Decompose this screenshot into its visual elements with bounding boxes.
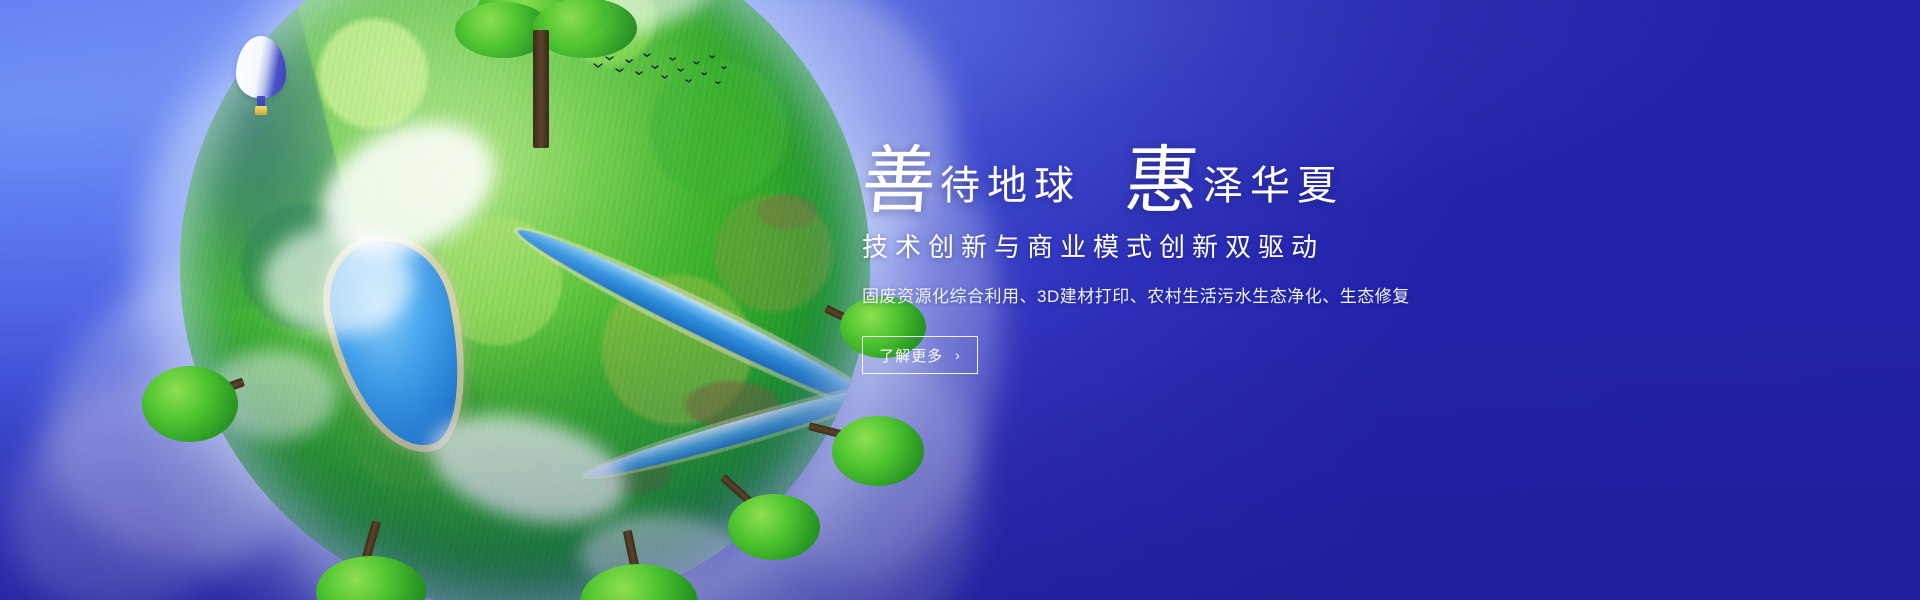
tree-icon [690, 470, 820, 580]
tree-trunk [533, 30, 549, 148]
tree-crown [142, 366, 238, 442]
birds-icon [590, 48, 730, 94]
headline-primary-1: 善 [859, 142, 938, 220]
hero-subtitle: 技术创新与商业模式创新双驱动 [862, 230, 1562, 264]
hero-banner: 善 待地球 惠 泽华夏 技术创新与商业模式创新双驱动 固废资源化综合利用、3D建… [0, 0, 1920, 600]
learn-more-button[interactable]: 了解更多 › [862, 336, 978, 374]
tree-crown [580, 564, 698, 600]
balloon-basket [255, 106, 267, 115]
tree-crown [832, 416, 924, 486]
balloon-envelope [236, 36, 286, 98]
hero-content: 善 待地球 惠 泽华夏 技术创新与商业模式创新双驱动 固废资源化综合利用、3D建… [862, 128, 1562, 374]
tree-icon [560, 530, 710, 600]
hero-description: 固废资源化综合利用、3D建材打印、农村生活污水生态净化、生态修复 [862, 284, 1562, 310]
tree-icon [140, 360, 270, 500]
balloon-neck [257, 96, 265, 106]
tree-icon [300, 520, 440, 600]
headline-primary-2: 惠 [1122, 142, 1201, 220]
tree-crown [316, 556, 426, 600]
learn-more-label: 了解更多 [879, 345, 943, 366]
headline-secondary-2: 泽华夏 [1203, 162, 1344, 220]
hot-air-balloon-icon [236, 36, 286, 122]
tree-crown [728, 494, 820, 560]
page-title: 善 待地球 惠 泽华夏 [862, 128, 1562, 220]
chevron-right-icon: › [955, 348, 961, 362]
headline-secondary-1: 待地球 [940, 162, 1081, 220]
